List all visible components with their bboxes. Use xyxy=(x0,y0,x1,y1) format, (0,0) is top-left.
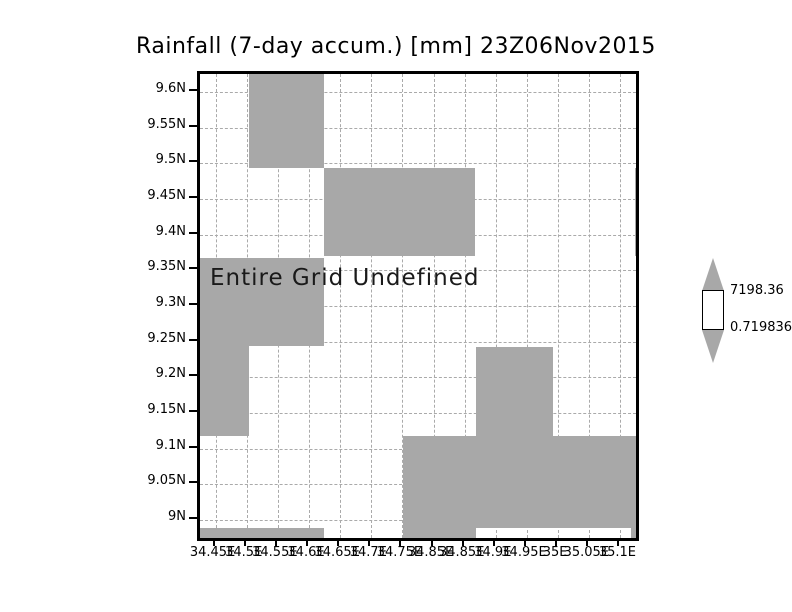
page-title: Rainfall (7-day accum.) [mm] 23Z06Nov201… xyxy=(0,34,792,59)
x-axis-tick-mark xyxy=(462,538,464,546)
colorbar-arrow-up-icon xyxy=(702,258,724,291)
y-axis-tick-label: 9.25N xyxy=(126,331,186,346)
y-axis-tick-mark xyxy=(189,481,197,483)
x-axis-tick-mark xyxy=(213,538,215,546)
y-axis-tick-label: 9.3N xyxy=(126,295,186,310)
x-axis-tick-mark xyxy=(306,538,308,546)
colorbar-arrow-down-icon xyxy=(702,330,724,363)
y-axis-tick-mark xyxy=(189,160,197,162)
gridline-horizontal xyxy=(200,377,636,378)
x-axis-tick-mark xyxy=(431,538,433,546)
x-axis-tick-mark xyxy=(524,538,526,546)
x-axis-tick-mark xyxy=(368,538,370,546)
undefined-region-block xyxy=(403,528,476,538)
x-axis-tick-mark xyxy=(617,538,619,546)
undefined-region-block xyxy=(324,168,475,256)
y-axis-tick-label: 9.35N xyxy=(126,259,186,274)
entire-grid-undefined-label: Entire Grid Undefined xyxy=(210,265,480,291)
y-axis-tick-label: 9.2N xyxy=(126,366,186,381)
undefined-region-block xyxy=(200,528,324,538)
undefined-region-block xyxy=(635,168,636,256)
y-axis-tick-mark xyxy=(189,410,197,412)
undefined-region-block xyxy=(200,346,249,436)
y-axis-tick-mark xyxy=(189,232,197,234)
y-axis-tick-label: 9N xyxy=(126,509,186,524)
colorbar-low-value: 0.719836 xyxy=(730,320,792,335)
y-axis-tick-label: 9.5N xyxy=(126,152,186,167)
y-axis-tick-mark xyxy=(189,374,197,376)
y-axis-tick-mark xyxy=(189,125,197,127)
y-axis-tick-mark xyxy=(189,303,197,305)
undefined-region-block xyxy=(476,347,553,436)
y-axis-tick-mark xyxy=(189,196,197,198)
x-axis-tick-label: 34.95E xyxy=(501,545,546,560)
plot-area: Entire Grid Undefined xyxy=(197,71,639,541)
colorbar-body xyxy=(702,290,724,330)
y-axis-tick-label: 9.55N xyxy=(126,117,186,132)
y-axis-tick-mark xyxy=(189,267,197,269)
x-axis-tick-mark xyxy=(275,538,277,546)
y-axis-tick-mark xyxy=(189,517,197,519)
y-axis-tick-label: 9.15N xyxy=(126,402,186,417)
y-axis-tick-mark xyxy=(189,89,197,91)
x-axis-tick-mark xyxy=(337,538,339,546)
plot-canvas: Entire Grid Undefined xyxy=(200,74,636,538)
undefined-region-block xyxy=(403,436,636,528)
undefined-region-block xyxy=(631,528,636,538)
x-axis-tick-mark xyxy=(399,538,401,546)
colorbar-high-value: 7198.36 xyxy=(730,283,784,298)
y-axis-tick-mark xyxy=(189,446,197,448)
y-axis-labels: 9.6N9.55N9.5N9.45N9.4N9.35N9.3N9.25N9.2N… xyxy=(126,0,186,612)
y-axis-tick-mark xyxy=(189,339,197,341)
x-axis-labels: 34.45E34.5E34.55E34.6E34.65E34.7E34.75E3… xyxy=(0,545,792,565)
y-axis-tick-label: 9.05N xyxy=(126,473,186,488)
gridline-horizontal xyxy=(200,413,636,414)
colorbar-legend: 7198.36 0.719836 xyxy=(700,258,726,362)
x-axis-tick-mark xyxy=(493,538,495,546)
y-axis-tick-label: 9.6N xyxy=(126,81,186,96)
y-axis-tick-label: 9.4N xyxy=(126,224,186,239)
x-axis-tick-label: 35.1E xyxy=(599,545,636,560)
x-axis-tick-mark xyxy=(555,538,557,546)
x-axis-tick-mark xyxy=(586,538,588,546)
y-axis-tick-label: 9.1N xyxy=(126,438,186,453)
y-axis-tick-label: 9.45N xyxy=(126,188,186,203)
x-axis-tick-mark xyxy=(244,538,246,546)
undefined-region-block xyxy=(249,74,324,168)
